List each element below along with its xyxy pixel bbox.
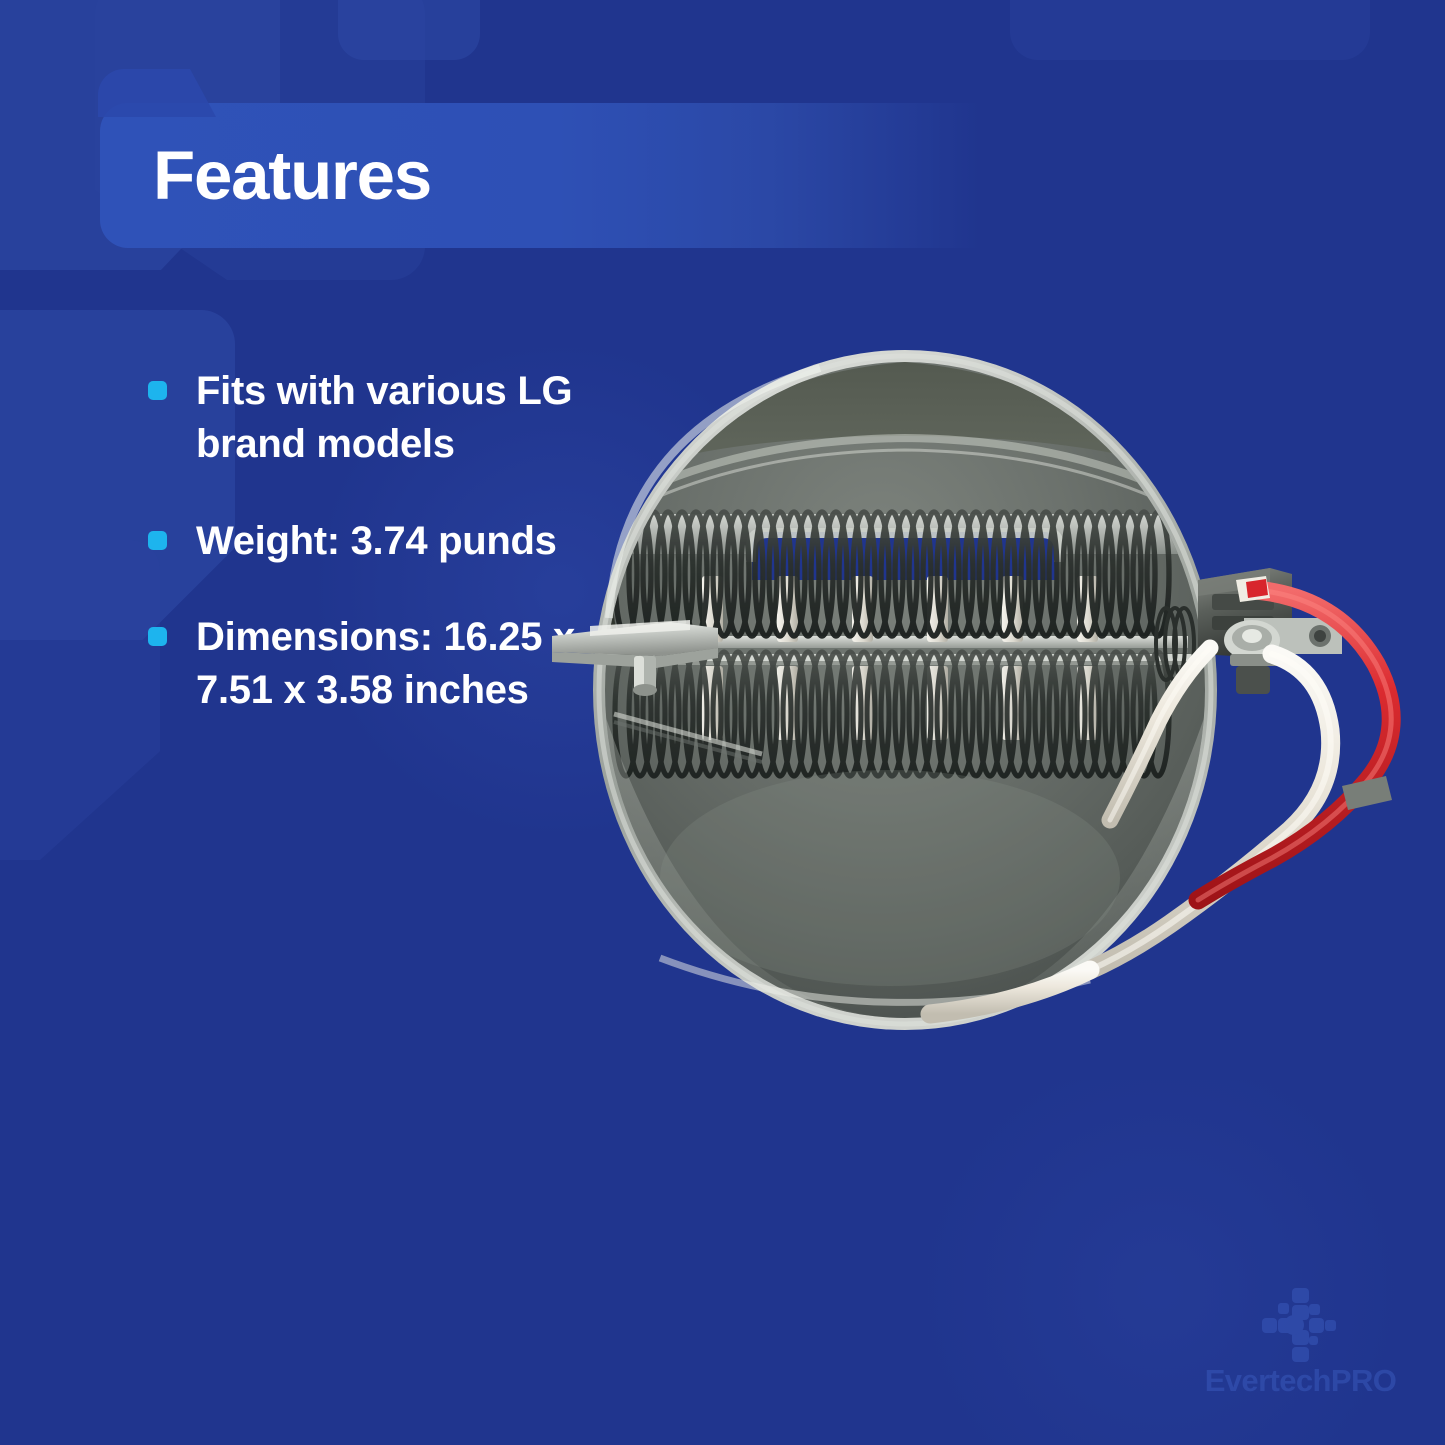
square-bullet-icon — [148, 381, 167, 400]
decor-rect-top — [338, 0, 480, 60]
square-bullet-icon — [148, 531, 167, 550]
page-title: Features — [153, 141, 431, 210]
pixel-cross-logo-icon — [1262, 1288, 1340, 1362]
watermark-logo: EvertechPRO — [1193, 1288, 1408, 1408]
features-title-banner: Features — [100, 103, 980, 248]
logo-brand-first: Evertech — [1205, 1363, 1331, 1398]
logo-wordmark: EvertechPRO — [1205, 1365, 1397, 1396]
decor-hexagon-lower-left — [0, 540, 160, 860]
feature-text: Weight: 3.74 punds — [196, 515, 557, 568]
product-photo-dryer-heating-element — [530, 318, 1445, 1063]
infographic-canvas: Features Fits with various LG brand mode… — [0, 0, 1445, 1445]
decor-rect-top-right — [1010, 0, 1370, 60]
banner-notch-accent — [98, 69, 216, 117]
logo-brand-second: PRO — [1331, 1363, 1396, 1398]
square-bullet-icon — [148, 627, 167, 646]
